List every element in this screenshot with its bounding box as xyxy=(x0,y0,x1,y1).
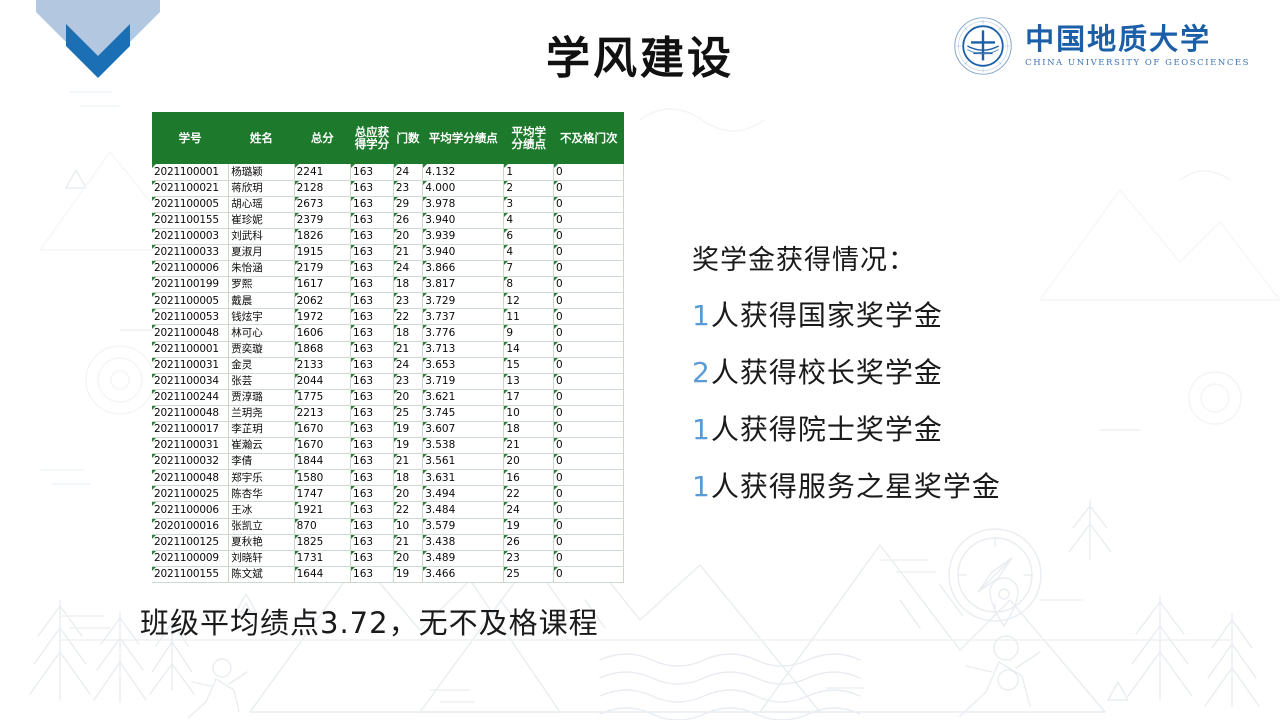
logo-name-cn: 中国地质大学 xyxy=(1025,25,1250,54)
cell-gpa: 4.000 xyxy=(423,180,504,196)
cell-name: 林可心 xyxy=(229,325,294,341)
cell-course-count: 25 xyxy=(393,405,422,421)
cell-gpa: 3.939 xyxy=(423,228,504,244)
scholarship-item: 1人获得服务之星奖学金 xyxy=(692,465,1001,505)
cell-student-id: 2021100244 xyxy=(152,389,229,405)
cell-fail-count: 0 xyxy=(554,502,624,518)
cell-gpa-rank: 11 xyxy=(504,309,554,325)
cell-gpa-rank: 12 xyxy=(504,293,554,309)
cell-student-id: 2021100155 xyxy=(152,212,229,228)
cell-gpa-rank: 7 xyxy=(504,261,554,277)
cell-student-id: 2021100033 xyxy=(152,244,229,260)
table-row: 2021100017李芷玥1670163193.607180 xyxy=(152,422,624,438)
cell-total-credits: 163 xyxy=(351,454,394,470)
table-row: 2021100003刘武科1826163203.93960 xyxy=(152,228,624,244)
cell-name: 李芷玥 xyxy=(229,422,294,438)
cell-student-id: 2021100021 xyxy=(152,180,229,196)
table-row: 2021100005戴晨2062163233.729120 xyxy=(152,293,624,309)
table-row: 2021100031金灵2133163243.653150 xyxy=(152,357,624,373)
cell-course-count: 24 xyxy=(393,164,422,180)
cell-gpa: 3.631 xyxy=(423,470,504,486)
cell-course-count: 24 xyxy=(393,357,422,373)
cell-student-id: 2021100031 xyxy=(152,357,229,373)
cell-fail-count: 0 xyxy=(554,470,624,486)
cell-total-credits: 163 xyxy=(351,422,394,438)
cell-gpa: 3.489 xyxy=(423,550,504,566)
cell-total-score: 2379 xyxy=(294,212,350,228)
cell-gpa: 3.538 xyxy=(423,438,504,454)
column-header-name: 姓名 xyxy=(229,112,294,164)
cell-total-credits: 163 xyxy=(351,486,394,502)
cell-fail-count: 0 xyxy=(554,164,624,180)
cell-total-credits: 163 xyxy=(351,261,394,277)
cell-total-score: 1670 xyxy=(294,422,350,438)
cell-fail-count: 0 xyxy=(554,550,624,566)
cell-name: 李倩 xyxy=(229,454,294,470)
cell-total-score: 1844 xyxy=(294,454,350,470)
cell-gpa-rank: 19 xyxy=(504,518,554,534)
cell-name: 崔珍妮 xyxy=(229,212,294,228)
scholarship-text: 人获得院士奖学金 xyxy=(711,413,943,446)
cell-student-id: 2021100048 xyxy=(152,470,229,486)
table-row: 2021100034张芸2044163233.719130 xyxy=(152,373,624,389)
cell-fail-count: 0 xyxy=(554,196,624,212)
cell-name: 刘武科 xyxy=(229,228,294,244)
cell-course-count: 24 xyxy=(393,261,422,277)
cell-name: 张芸 xyxy=(229,373,294,389)
cell-total-credits: 163 xyxy=(351,373,394,389)
cell-gpa-rank: 21 xyxy=(504,438,554,454)
cell-gpa: 4.132 xyxy=(423,164,504,180)
cell-course-count: 29 xyxy=(393,196,422,212)
cell-student-id: 2021100005 xyxy=(152,293,229,309)
cell-total-credits: 163 xyxy=(351,325,394,341)
cell-total-credits: 163 xyxy=(351,309,394,325)
scholarship-count: 1 xyxy=(692,470,711,503)
cell-total-credits: 163 xyxy=(351,405,394,421)
table-row: 2021100033夏淑月1915163213.94040 xyxy=(152,244,624,260)
cell-student-id: 2021100001 xyxy=(152,341,229,357)
cell-total-credits: 163 xyxy=(351,341,394,357)
cell-total-score: 2673 xyxy=(294,196,350,212)
cell-gpa-rank: 20 xyxy=(504,454,554,470)
cell-total-score: 1606 xyxy=(294,325,350,341)
cell-total-score: 2241 xyxy=(294,164,350,180)
cell-student-id: 2021100009 xyxy=(152,550,229,566)
cell-name: 贾奕璇 xyxy=(229,341,294,357)
cell-course-count: 21 xyxy=(393,454,422,470)
cell-gpa: 3.653 xyxy=(423,357,504,373)
cell-fail-count: 0 xyxy=(554,277,624,293)
cell-total-score: 1580 xyxy=(294,470,350,486)
cell-total-score: 1921 xyxy=(294,502,350,518)
table-row: 2021100032李倩1844163213.561200 xyxy=(152,454,624,470)
cell-total-score: 1972 xyxy=(294,309,350,325)
cell-total-score: 1731 xyxy=(294,550,350,566)
scholarship-item: 1人获得院士奖学金 xyxy=(692,408,1001,448)
scholarship-heading: 奖学金获得情况： xyxy=(692,238,1001,277)
cell-gpa-rank: 3 xyxy=(504,196,554,212)
cell-name: 兰玥尧 xyxy=(229,405,294,421)
table-row: 2021100001贾奕璇1868163213.713140 xyxy=(152,341,624,357)
cell-fail-count: 0 xyxy=(554,389,624,405)
cell-gpa-rank: 16 xyxy=(504,470,554,486)
column-header-student-id: 学号 xyxy=(152,112,229,164)
column-header-gpa-rank: 平均学分绩点 xyxy=(504,112,554,164)
cell-name: 胡心瑶 xyxy=(229,196,294,212)
table-row: 2020100016张凯立870163103.579190 xyxy=(152,518,624,534)
cell-total-score: 1868 xyxy=(294,341,350,357)
cell-fail-count: 0 xyxy=(554,422,624,438)
cell-total-score: 1826 xyxy=(294,228,350,244)
cell-fail-count: 0 xyxy=(554,212,624,228)
cell-gpa: 3.776 xyxy=(423,325,504,341)
cell-course-count: 10 xyxy=(393,518,422,534)
cell-name: 贾淳璐 xyxy=(229,389,294,405)
cell-course-count: 18 xyxy=(393,470,422,486)
cell-fail-count: 0 xyxy=(554,293,624,309)
cell-total-credits: 163 xyxy=(351,277,394,293)
cell-course-count: 20 xyxy=(393,550,422,566)
table-row: 2021100021蒋欣玥2128163234.00020 xyxy=(152,180,624,196)
cell-total-score: 2062 xyxy=(294,293,350,309)
grades-table: 学号 姓名 总分 总应获得学分 门数 平均学分绩点 平均学分绩点 不及格门次 2… xyxy=(152,112,624,583)
cell-name: 钱炫宇 xyxy=(229,309,294,325)
cell-student-id: 2020100016 xyxy=(152,518,229,534)
cell-total-credits: 163 xyxy=(351,212,394,228)
cell-student-id: 2021100003 xyxy=(152,228,229,244)
cell-fail-count: 0 xyxy=(554,228,624,244)
cell-name: 罗熙 xyxy=(229,277,294,293)
cell-total-credits: 163 xyxy=(351,518,394,534)
logo-name-en: CHINA UNIVERSITY OF GEOSCIENCES xyxy=(1025,59,1250,68)
cell-total-credits: 163 xyxy=(351,566,394,582)
cell-student-id: 2021100017 xyxy=(152,422,229,438)
cell-student-id: 2021100155 xyxy=(152,566,229,582)
table-row: 2021100006王冰1921163223.484240 xyxy=(152,502,624,518)
cell-course-count: 19 xyxy=(393,422,422,438)
cell-course-count: 23 xyxy=(393,293,422,309)
table-row: 2021100009刘晓轩1731163203.489230 xyxy=(152,550,624,566)
cell-gpa: 3.978 xyxy=(423,196,504,212)
cell-gpa-rank: 14 xyxy=(504,341,554,357)
cell-gpa: 3.621 xyxy=(423,389,504,405)
cell-gpa-rank: 25 xyxy=(504,566,554,582)
cell-total-score: 1775 xyxy=(294,389,350,405)
table-row: 2021100048兰玥尧2213163253.745100 xyxy=(152,405,624,421)
table-row: 2021100005胡心瑶2673163293.97830 xyxy=(152,196,624,212)
cell-student-id: 2021100006 xyxy=(152,502,229,518)
cell-name: 蒋欣玥 xyxy=(229,180,294,196)
cell-gpa-rank: 15 xyxy=(504,357,554,373)
cell-total-score: 1617 xyxy=(294,277,350,293)
grades-table-container: 学号 姓名 总分 总应获得学分 门数 平均学分绩点 平均学分绩点 不及格门次 2… xyxy=(152,112,624,583)
cell-student-id: 2021100199 xyxy=(152,277,229,293)
cell-course-count: 19 xyxy=(393,438,422,454)
cell-gpa: 3.494 xyxy=(423,486,504,502)
cell-fail-count: 0 xyxy=(554,244,624,260)
cell-total-credits: 163 xyxy=(351,293,394,309)
cell-total-score: 2133 xyxy=(294,357,350,373)
cell-name: 朱怡涵 xyxy=(229,261,294,277)
table-row: 2021100155崔珍妮2379163263.94040 xyxy=(152,212,624,228)
cell-name: 张凯立 xyxy=(229,518,294,534)
cell-gpa-rank: 6 xyxy=(504,228,554,244)
scholarship-count: 1 xyxy=(692,299,711,332)
cell-name: 郑宇乐 xyxy=(229,470,294,486)
cell-gpa-rank: 4 xyxy=(504,244,554,260)
table-row: 2021100048林可心1606163183.77690 xyxy=(152,325,624,341)
cell-gpa: 3.940 xyxy=(423,212,504,228)
table-row: 2021100244贾淳璐1775163203.621170 xyxy=(152,389,624,405)
cell-gpa: 3.866 xyxy=(423,261,504,277)
cell-total-credits: 163 xyxy=(351,534,394,550)
column-header-total-credits: 总应获得学分 xyxy=(351,112,394,164)
cell-fail-count: 0 xyxy=(554,566,624,582)
university-logo: 中国地质大学 CHINA UNIVERSITY OF GEOSCIENCES xyxy=(953,16,1250,76)
scholarship-text: 人获得校长奖学金 xyxy=(711,356,943,389)
cell-course-count: 19 xyxy=(393,566,422,582)
table-row: 2021100053钱炫宇1972163223.737110 xyxy=(152,309,624,325)
cell-total-score: 2179 xyxy=(294,261,350,277)
cell-fail-count: 0 xyxy=(554,261,624,277)
table-row: 2021100155陈文斌1644163193.466250 xyxy=(152,566,624,582)
cell-gpa-rank: 23 xyxy=(504,550,554,566)
table-row: 2021100199罗熙1617163183.81780 xyxy=(152,277,624,293)
cell-gpa-rank: 17 xyxy=(504,389,554,405)
scholarship-item: 2人获得校长奖学金 xyxy=(692,351,1001,391)
cell-total-score: 2213 xyxy=(294,405,350,421)
cell-course-count: 20 xyxy=(393,228,422,244)
cell-course-count: 21 xyxy=(393,244,422,260)
cell-fail-count: 0 xyxy=(554,357,624,373)
cell-total-score: 1825 xyxy=(294,534,350,550)
cell-total-score: 1747 xyxy=(294,486,350,502)
cell-course-count: 18 xyxy=(393,277,422,293)
cell-gpa-rank: 24 xyxy=(504,502,554,518)
cell-total-credits: 163 xyxy=(351,357,394,373)
cell-name: 陈杏华 xyxy=(229,486,294,502)
cell-fail-count: 0 xyxy=(554,438,624,454)
cell-total-score: 2128 xyxy=(294,180,350,196)
column-header-gpa: 平均学分绩点 xyxy=(423,112,504,164)
cell-course-count: 20 xyxy=(393,389,422,405)
cell-gpa: 3.438 xyxy=(423,534,504,550)
cell-fail-count: 0 xyxy=(554,341,624,357)
cell-student-id: 2021100125 xyxy=(152,534,229,550)
cell-gpa-rank: 22 xyxy=(504,486,554,502)
cell-gpa-rank: 4 xyxy=(504,212,554,228)
scholarship-item: 1人获得国家奖学金 xyxy=(692,294,1001,334)
table-row: 2021100048郑宇乐1580163183.631160 xyxy=(152,470,624,486)
table-row: 2021100025陈杏华1747163203.494220 xyxy=(152,486,624,502)
cell-course-count: 23 xyxy=(393,180,422,196)
cell-student-id: 2021100048 xyxy=(152,325,229,341)
cell-gpa: 3.719 xyxy=(423,373,504,389)
cell-gpa: 3.737 xyxy=(423,309,504,325)
cell-total-credits: 163 xyxy=(351,389,394,405)
cell-total-credits: 163 xyxy=(351,164,394,180)
cell-gpa-rank: 26 xyxy=(504,534,554,550)
scholarship-count: 2 xyxy=(692,356,711,389)
cell-gpa-rank: 8 xyxy=(504,277,554,293)
cell-total-score: 870 xyxy=(294,518,350,534)
cell-student-id: 2021100048 xyxy=(152,405,229,421)
cell-name: 刘晓轩 xyxy=(229,550,294,566)
cell-fail-count: 0 xyxy=(554,325,624,341)
cell-gpa-rank: 10 xyxy=(504,405,554,421)
cell-fail-count: 0 xyxy=(554,373,624,389)
cell-student-id: 2021100005 xyxy=(152,196,229,212)
cell-total-credits: 163 xyxy=(351,470,394,486)
cell-fail-count: 0 xyxy=(554,454,624,470)
cell-gpa-rank: 2 xyxy=(504,180,554,196)
cell-gpa: 3.745 xyxy=(423,405,504,421)
cell-total-credits: 163 xyxy=(351,550,394,566)
cell-student-id: 2021100001 xyxy=(152,164,229,180)
scholarship-count: 1 xyxy=(692,413,711,446)
cell-fail-count: 0 xyxy=(554,309,624,325)
cell-total-credits: 163 xyxy=(351,438,394,454)
cell-gpa: 3.484 xyxy=(423,502,504,518)
cell-student-id: 2021100032 xyxy=(152,454,229,470)
cell-gpa: 3.940 xyxy=(423,244,504,260)
cell-fail-count: 0 xyxy=(554,486,624,502)
cell-course-count: 26 xyxy=(393,212,422,228)
cell-gpa: 3.713 xyxy=(423,341,504,357)
cell-fail-count: 0 xyxy=(554,534,624,550)
column-header-course-count: 门数 xyxy=(393,112,422,164)
column-header-fail-count: 不及格门次 xyxy=(554,112,624,164)
cell-gpa-rank: 13 xyxy=(504,373,554,389)
cell-gpa: 3.579 xyxy=(423,518,504,534)
cell-gpa-rank: 1 xyxy=(504,164,554,180)
column-header-total-score: 总分 xyxy=(294,112,350,164)
cell-student-id: 2021100006 xyxy=(152,261,229,277)
cell-student-id: 2021100025 xyxy=(152,486,229,502)
cell-gpa: 3.729 xyxy=(423,293,504,309)
cell-course-count: 18 xyxy=(393,325,422,341)
scholarship-list: 1人获得国家奖学金2人获得校长奖学金1人获得院士奖学金1人获得服务之星奖学金 xyxy=(692,294,1001,505)
cell-course-count: 23 xyxy=(393,373,422,389)
cell-total-score: 2044 xyxy=(294,373,350,389)
cell-total-credits: 163 xyxy=(351,502,394,518)
table-body: 2021100001杨璐颖2241163244.132102021100021蒋… xyxy=(152,164,624,582)
table-row: 2021100031崔瀚云1670163193.538210 xyxy=(152,438,624,454)
cell-student-id: 2021100053 xyxy=(152,309,229,325)
cell-fail-count: 0 xyxy=(554,405,624,421)
cell-total-credits: 163 xyxy=(351,196,394,212)
cell-total-credits: 163 xyxy=(351,228,394,244)
table-row: 2021100001杨璐颖2241163244.13210 xyxy=(152,164,624,180)
cell-name: 王冰 xyxy=(229,502,294,518)
cell-name: 戴晨 xyxy=(229,293,294,309)
cell-total-credits: 163 xyxy=(351,180,394,196)
cell-name: 陈文斌 xyxy=(229,566,294,582)
university-emblem-icon xyxy=(953,16,1013,76)
cell-total-score: 1644 xyxy=(294,566,350,582)
cell-gpa: 3.466 xyxy=(423,566,504,582)
cell-name: 崔瀚云 xyxy=(229,438,294,454)
cell-fail-count: 0 xyxy=(554,180,624,196)
table-caption: 班级平均绩点3.72，无不及格课程 xyxy=(140,600,599,642)
cell-gpa: 3.561 xyxy=(423,454,504,470)
table-header-row: 学号 姓名 总分 总应获得学分 门数 平均学分绩点 平均学分绩点 不及格门次 xyxy=(152,112,624,164)
cell-gpa: 3.607 xyxy=(423,422,504,438)
cell-course-count: 21 xyxy=(393,341,422,357)
cell-total-score: 1670 xyxy=(294,438,350,454)
scholarship-text: 人获得服务之星奖学金 xyxy=(711,470,1001,503)
table-row: 2021100125夏秋艳1825163213.438260 xyxy=(152,534,624,550)
scholarship-text: 人获得国家奖学金 xyxy=(711,299,943,332)
cell-name: 夏淑月 xyxy=(229,244,294,260)
cell-gpa: 3.817 xyxy=(423,277,504,293)
cell-student-id: 2021100031 xyxy=(152,438,229,454)
cell-total-score: 1915 xyxy=(294,244,350,260)
cell-course-count: 22 xyxy=(393,502,422,518)
cell-course-count: 21 xyxy=(393,534,422,550)
cell-fail-count: 0 xyxy=(554,518,624,534)
cell-name: 夏秋艳 xyxy=(229,534,294,550)
cell-course-count: 22 xyxy=(393,309,422,325)
cell-total-credits: 163 xyxy=(351,244,394,260)
cell-name: 金灵 xyxy=(229,357,294,373)
cell-course-count: 20 xyxy=(393,486,422,502)
cell-gpa-rank: 9 xyxy=(504,325,554,341)
cell-student-id: 2021100034 xyxy=(152,373,229,389)
cell-gpa-rank: 18 xyxy=(504,422,554,438)
table-row: 2021100006朱怡涵2179163243.86670 xyxy=(152,261,624,277)
scholarship-panel: 奖学金获得情况： 1人获得国家奖学金2人获得校长奖学金1人获得院士奖学金1人获得… xyxy=(692,238,1001,522)
cell-name: 杨璐颖 xyxy=(229,164,294,180)
